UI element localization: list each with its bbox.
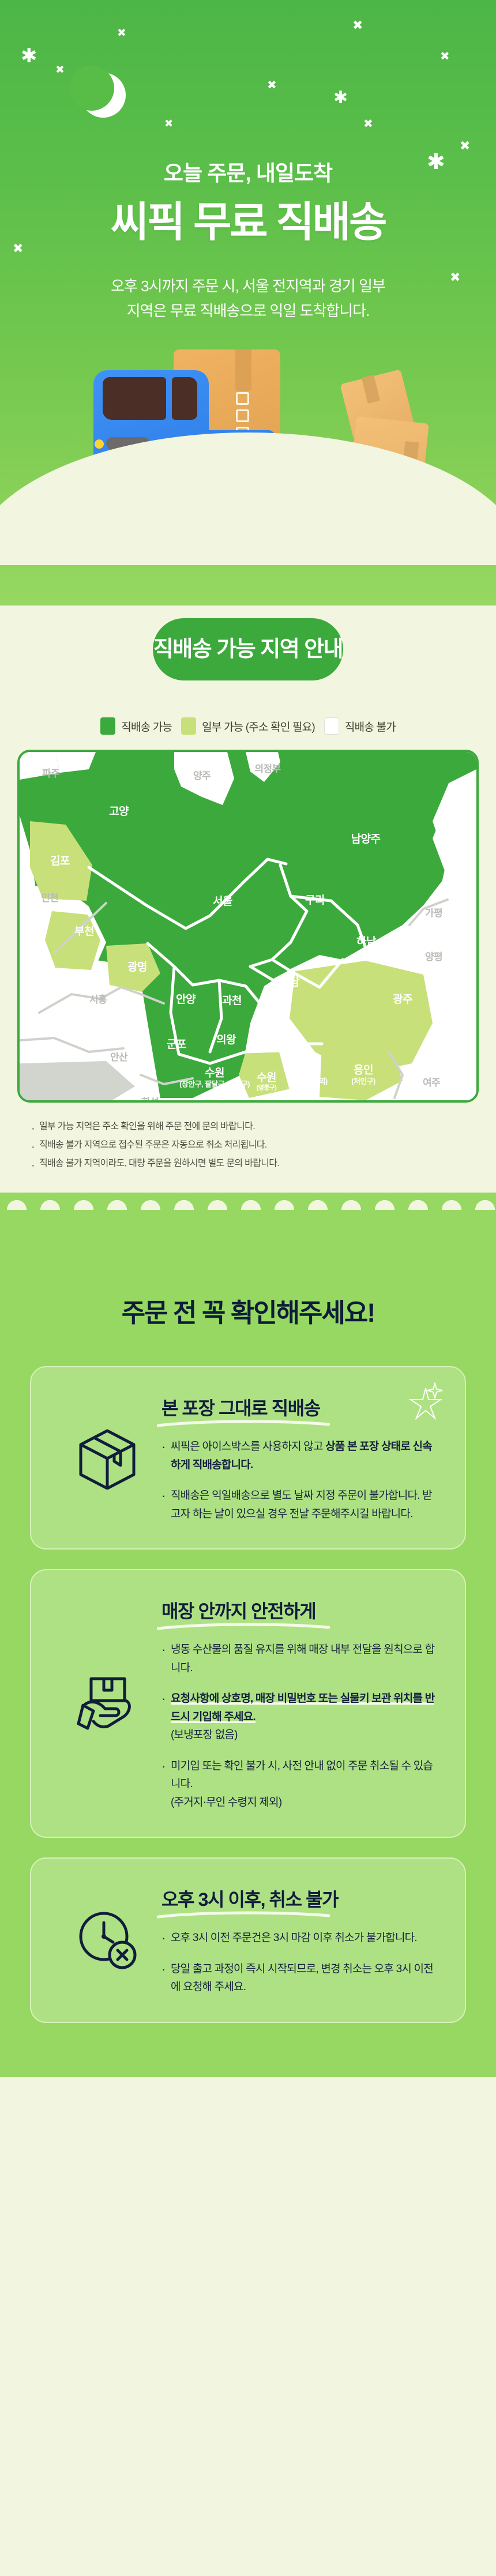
legend-label-unavailable: 직배송 불가 bbox=[345, 719, 396, 734]
truck-cargo-tab bbox=[235, 349, 251, 391]
card-bullet: 요청사항에 상호명, 매장 비밀번호 또는 실물키 보관 위치를 반드시 기입해… bbox=[161, 1690, 438, 1744]
bullet-text: 씨픽은 아이스박스를 사용하지 않고 bbox=[171, 1441, 325, 1453]
legend-swatch-unavailable bbox=[324, 717, 339, 735]
package-box-icon bbox=[75, 1425, 140, 1490]
pre-order-checklist-section: 주문 전 꼭 확인해주세요! 본 포장 그대로 직배송 bbox=[0, 1225, 496, 2077]
card-bullet: 씨픽은 아이스박스를 사용하지 않고 상품 본 포장 상태로 신속하게 직배송합… bbox=[161, 1438, 438, 1474]
map-note: 직배송 불가 지역이라도, 대량 주문을 원하시면 별도 문의 바랍니다. bbox=[31, 1155, 473, 1173]
card-icon-wrap bbox=[58, 1908, 157, 1972]
bullet-subnote: (보냉포장 없음) bbox=[171, 1726, 438, 1744]
card-bullet: 직배송은 익일배송으로 별도 날짜 지정 주문이 불가합니다. 받고자 하는 날… bbox=[161, 1487, 438, 1523]
map-note: 일부 가능 지역은 주소 확인을 위해 주문 전에 문의 바랍니다. bbox=[31, 1118, 473, 1136]
hero-description: 오후 3시까지 주문 시, 서울 전지역과 경기 일부 지역은 무료 직배송으로… bbox=[0, 274, 496, 324]
checklist-card: 본 포장 그대로 직배송 씨픽은 아이스박스를 사용하지 않고 상품 본 포장 … bbox=[30, 1366, 466, 1550]
legend-item-unavailable: 직배송 불가 bbox=[324, 717, 396, 735]
card-body: 매장 안까지 안전하게 냉동 수산물의 품질 유지를 위해 매장 내부 전달을 … bbox=[161, 1595, 438, 1811]
checklist-title: 주문 전 꼭 확인해주세요! bbox=[0, 1225, 496, 1366]
checklist-card: 매장 안까지 안전하게 냉동 수산물의 품질 유지를 위해 매장 내부 전달을 … bbox=[30, 1569, 466, 1838]
legend-swatch-partial bbox=[181, 717, 196, 735]
truck-windshield bbox=[103, 377, 166, 420]
card-bullet: 당일 출고 과정이 즉시 시작되므로, 변경 취소는 오후 3시 이전에 요청해… bbox=[161, 1960, 438, 1996]
truck-side-window bbox=[172, 377, 197, 420]
hero-description-line2: 지역은 무료 직배송으로 익일 도착합니다. bbox=[127, 302, 370, 319]
map-regions-svg bbox=[20, 752, 476, 1100]
underline-swish-icon bbox=[157, 1419, 330, 1428]
card-body: 본 포장 그대로 직배송 씨픽은 아이스박스를 사용하지 않고 상품 본 포장 … bbox=[161, 1392, 438, 1523]
legend-item-partial: 일부 가능 (주소 확인 필요) bbox=[181, 717, 315, 735]
card-body: 오후 3시 이후, 취소 불가 오후 3시 이전 주문건은 3시 마감 이후 취… bbox=[161, 1883, 438, 1996]
map-legend: 직배송 가능 일부 가능 (주소 확인 필요) 직배송 불가 bbox=[0, 717, 496, 735]
hero-text-block: 오늘 주문, 내일도착 씨픽 무료 직배송 오후 3시까지 주문 시, 서울 전… bbox=[0, 0, 496, 324]
hand-holding-box-icon bbox=[75, 1671, 140, 1735]
card-heading: 매장 안까지 안전하게 bbox=[161, 1597, 315, 1623]
bullet-text: 미기입 또는 확인 불가 시, 사전 안내 없이 주문 취소될 수 있습니다. bbox=[171, 1760, 433, 1791]
card-icon-wrap bbox=[58, 1425, 157, 1490]
truck-cargo-label bbox=[236, 392, 249, 405]
card-heading: 오후 3시 이후, 취소 불가 bbox=[161, 1885, 338, 1912]
hero-kicker: 오늘 주문, 내일도착 bbox=[0, 156, 496, 187]
legend-item-available: 직배송 가능 bbox=[100, 717, 172, 735]
scallop-shape bbox=[0, 1193, 496, 1210]
underline-swish-icon bbox=[157, 1911, 330, 1920]
scallop-divider bbox=[0, 1193, 496, 1225]
legend-label-partial: 일부 가능 (주소 확인 필요) bbox=[202, 719, 315, 734]
delivery-area-section: 직배송 가능 지역 안내 직배송 가능 일부 가능 (주소 확인 필요) 직배송… bbox=[0, 606, 496, 1193]
hero-section: ✱ ✖ ✖ ✖ ✖ ✱ ✖ ✖ ✱ ✖ ✖ ✖ ✖ 오늘 주문, 내일도착 씨픽… bbox=[0, 0, 496, 606]
hero-description-line1: 오후 3시까지 주문 시, 서울 전지역과 경기 일부 bbox=[111, 277, 385, 295]
clock-cancel-icon bbox=[75, 1908, 140, 1972]
truck-headlight bbox=[95, 439, 104, 449]
underline-swish-icon bbox=[157, 1622, 330, 1631]
map-notes-list: 일부 가능 지역은 주소 확인을 위해 주문 전에 문의 바랍니다. 직배송 불… bbox=[23, 1118, 473, 1173]
card-heading: 본 포장 그대로 직배송 bbox=[161, 1394, 320, 1420]
delivery-coverage-map[interactable]: 고양 서울 남양주 구리 하남 안양 과천 군포 의왕 성남 수원 (장안구, … bbox=[17, 750, 479, 1103]
delivery-truck-illustration bbox=[0, 329, 496, 525]
delivery-area-guide-button[interactable]: 직배송 가능 지역 안내 bbox=[153, 618, 343, 680]
card-bullet: 미기입 또는 확인 불가 시, 사전 안내 없이 주문 취소될 수 있습니다.(… bbox=[161, 1757, 438, 1812]
legend-swatch-available bbox=[100, 717, 115, 735]
truck-cargo-label bbox=[236, 409, 249, 422]
sparkle-icon bbox=[408, 1382, 444, 1423]
bullet-strong: 요청사항에 상호명, 매장 비밀번호 또는 실물키 보관 위치를 반드시 기입해… bbox=[171, 1693, 434, 1723]
map-note: 직배송 불가 지역으로 접수된 주문은 자동으로 취소 처리됩니다. bbox=[31, 1136, 473, 1155]
legend-label-available: 직배송 가능 bbox=[121, 719, 172, 734]
landing-page: ✱ ✖ ✖ ✖ ✖ ✱ ✖ ✖ ✱ ✖ ✖ ✖ ✖ 오늘 주문, 내일도착 씨픽… bbox=[0, 0, 496, 2077]
hero-title: 씨픽 무료 직배송 bbox=[0, 200, 496, 246]
checklist-card: 오후 3시 이후, 취소 불가 오후 3시 이전 주문건은 3시 마감 이후 취… bbox=[30, 1857, 466, 2023]
bullet-subnote: (주거지·무인 수령지 제외) bbox=[171, 1793, 438, 1812]
card-bullet: 냉동 수산물의 품질 유지를 위해 매장 내부 전달을 원칙으로 합니다. bbox=[161, 1641, 438, 1677]
card-icon-wrap bbox=[58, 1671, 157, 1735]
card-bullet: 오후 3시 이전 주문건은 3시 마감 이후 취소가 불가합니다. bbox=[161, 1929, 438, 1947]
